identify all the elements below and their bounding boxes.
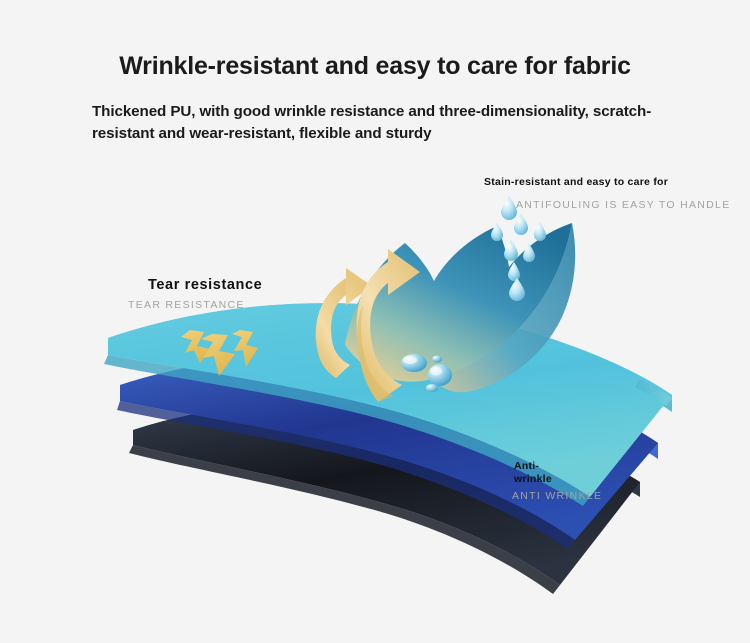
callout-wrinkle-title-line2: wrinkle bbox=[514, 473, 602, 486]
callout-stain-resistant: Stain-resistant and easy to care for ANT… bbox=[484, 176, 731, 211]
callout-tear-resistance: Tear resistance TEAR RESISTANCE bbox=[148, 277, 262, 311]
product-feature-banner: Wrinkle-resistant and easy to care for f… bbox=[0, 0, 750, 643]
lightning-bolt-icon bbox=[181, 330, 258, 376]
callout-tear-title: Tear resistance bbox=[148, 277, 262, 293]
callout-stain-subtitle: ANTIFOULING IS EASY TO HANDLE bbox=[516, 199, 731, 211]
callout-wrinkle-title-line1: Anti- bbox=[514, 460, 602, 473]
water-bead-icon bbox=[401, 354, 452, 392]
layered-fabric-illustration bbox=[0, 0, 750, 643]
callout-wrinkle-title: Anti- wrinkle bbox=[514, 460, 602, 486]
callout-anti-wrinkle: Anti- wrinkle ANTI WRINKLE bbox=[514, 460, 602, 502]
page-title: Wrinkle-resistant and easy to care for f… bbox=[0, 52, 750, 81]
page-subtitle: Thickened PU, with good wrinkle resistan… bbox=[92, 101, 658, 144]
up-arrow-icon bbox=[316, 249, 472, 414]
callout-tear-subtitle: TEAR RESISTANCE bbox=[128, 299, 262, 311]
callout-wrinkle-subtitle: ANTI WRINKLE bbox=[512, 490, 602, 502]
water-droplet-icon bbox=[491, 196, 546, 301]
callout-stain-title: Stain-resistant and easy to care for bbox=[484, 176, 731, 188]
water-splash-icon bbox=[345, 223, 575, 392]
fabric-layer-middle bbox=[117, 354, 658, 549]
